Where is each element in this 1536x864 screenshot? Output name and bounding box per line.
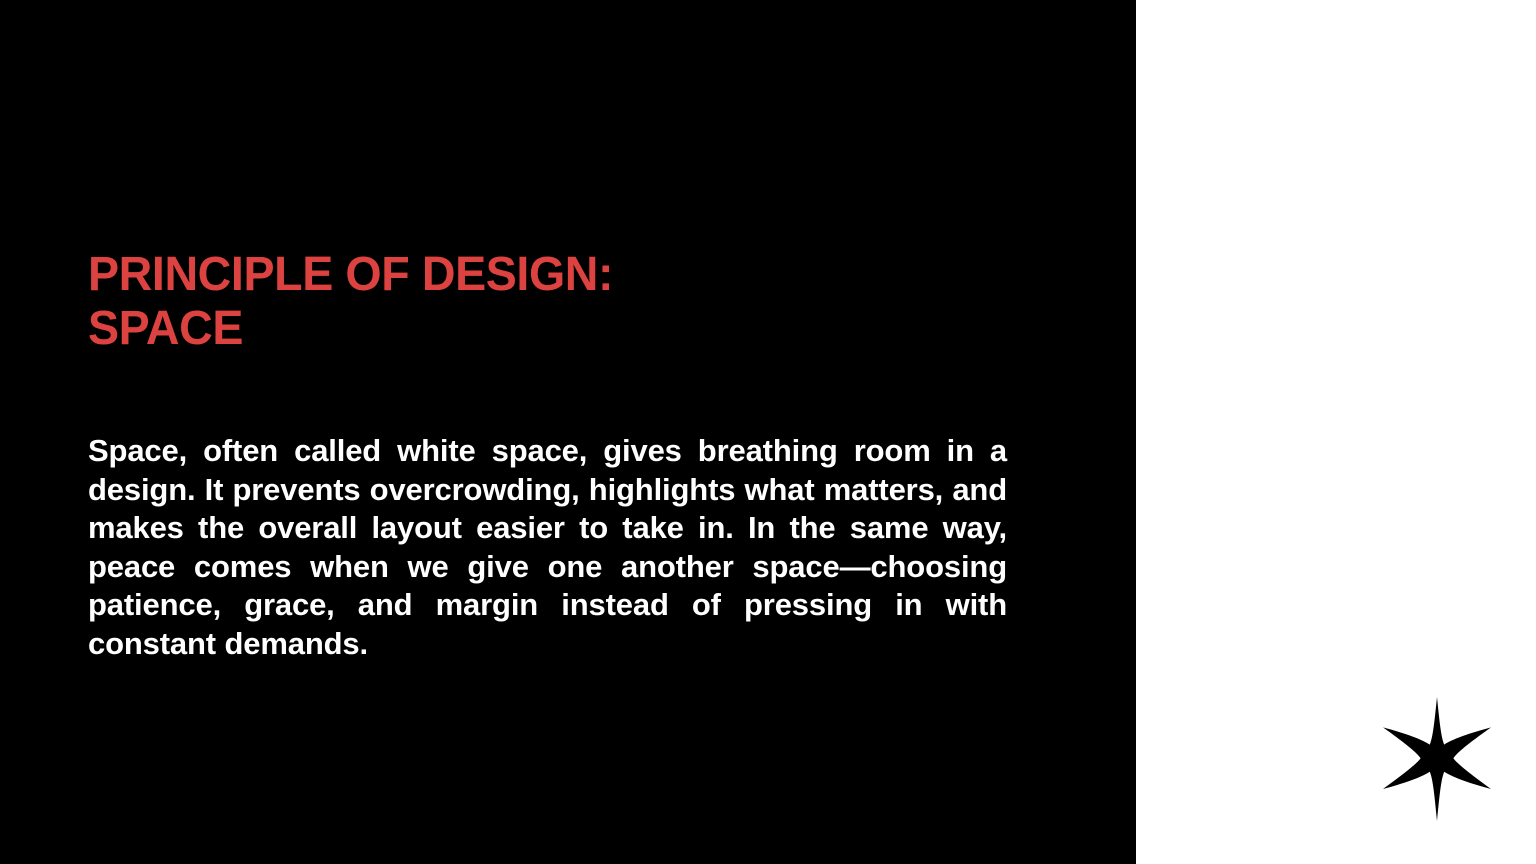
body-block: Space, often called white space, gives b… xyxy=(88,432,1007,664)
slide-canvas: PRINCIPLE OF DESIGN: SPACE Space, often … xyxy=(0,0,1536,864)
title-block: PRINCIPLE OF DESIGN: SPACE xyxy=(88,248,1068,356)
body-paragraph: Space, often called white space, gives b… xyxy=(88,432,1007,664)
slide-title: PRINCIPLE OF DESIGN: SPACE xyxy=(88,248,1039,356)
six-point-star-icon xyxy=(1381,697,1493,821)
